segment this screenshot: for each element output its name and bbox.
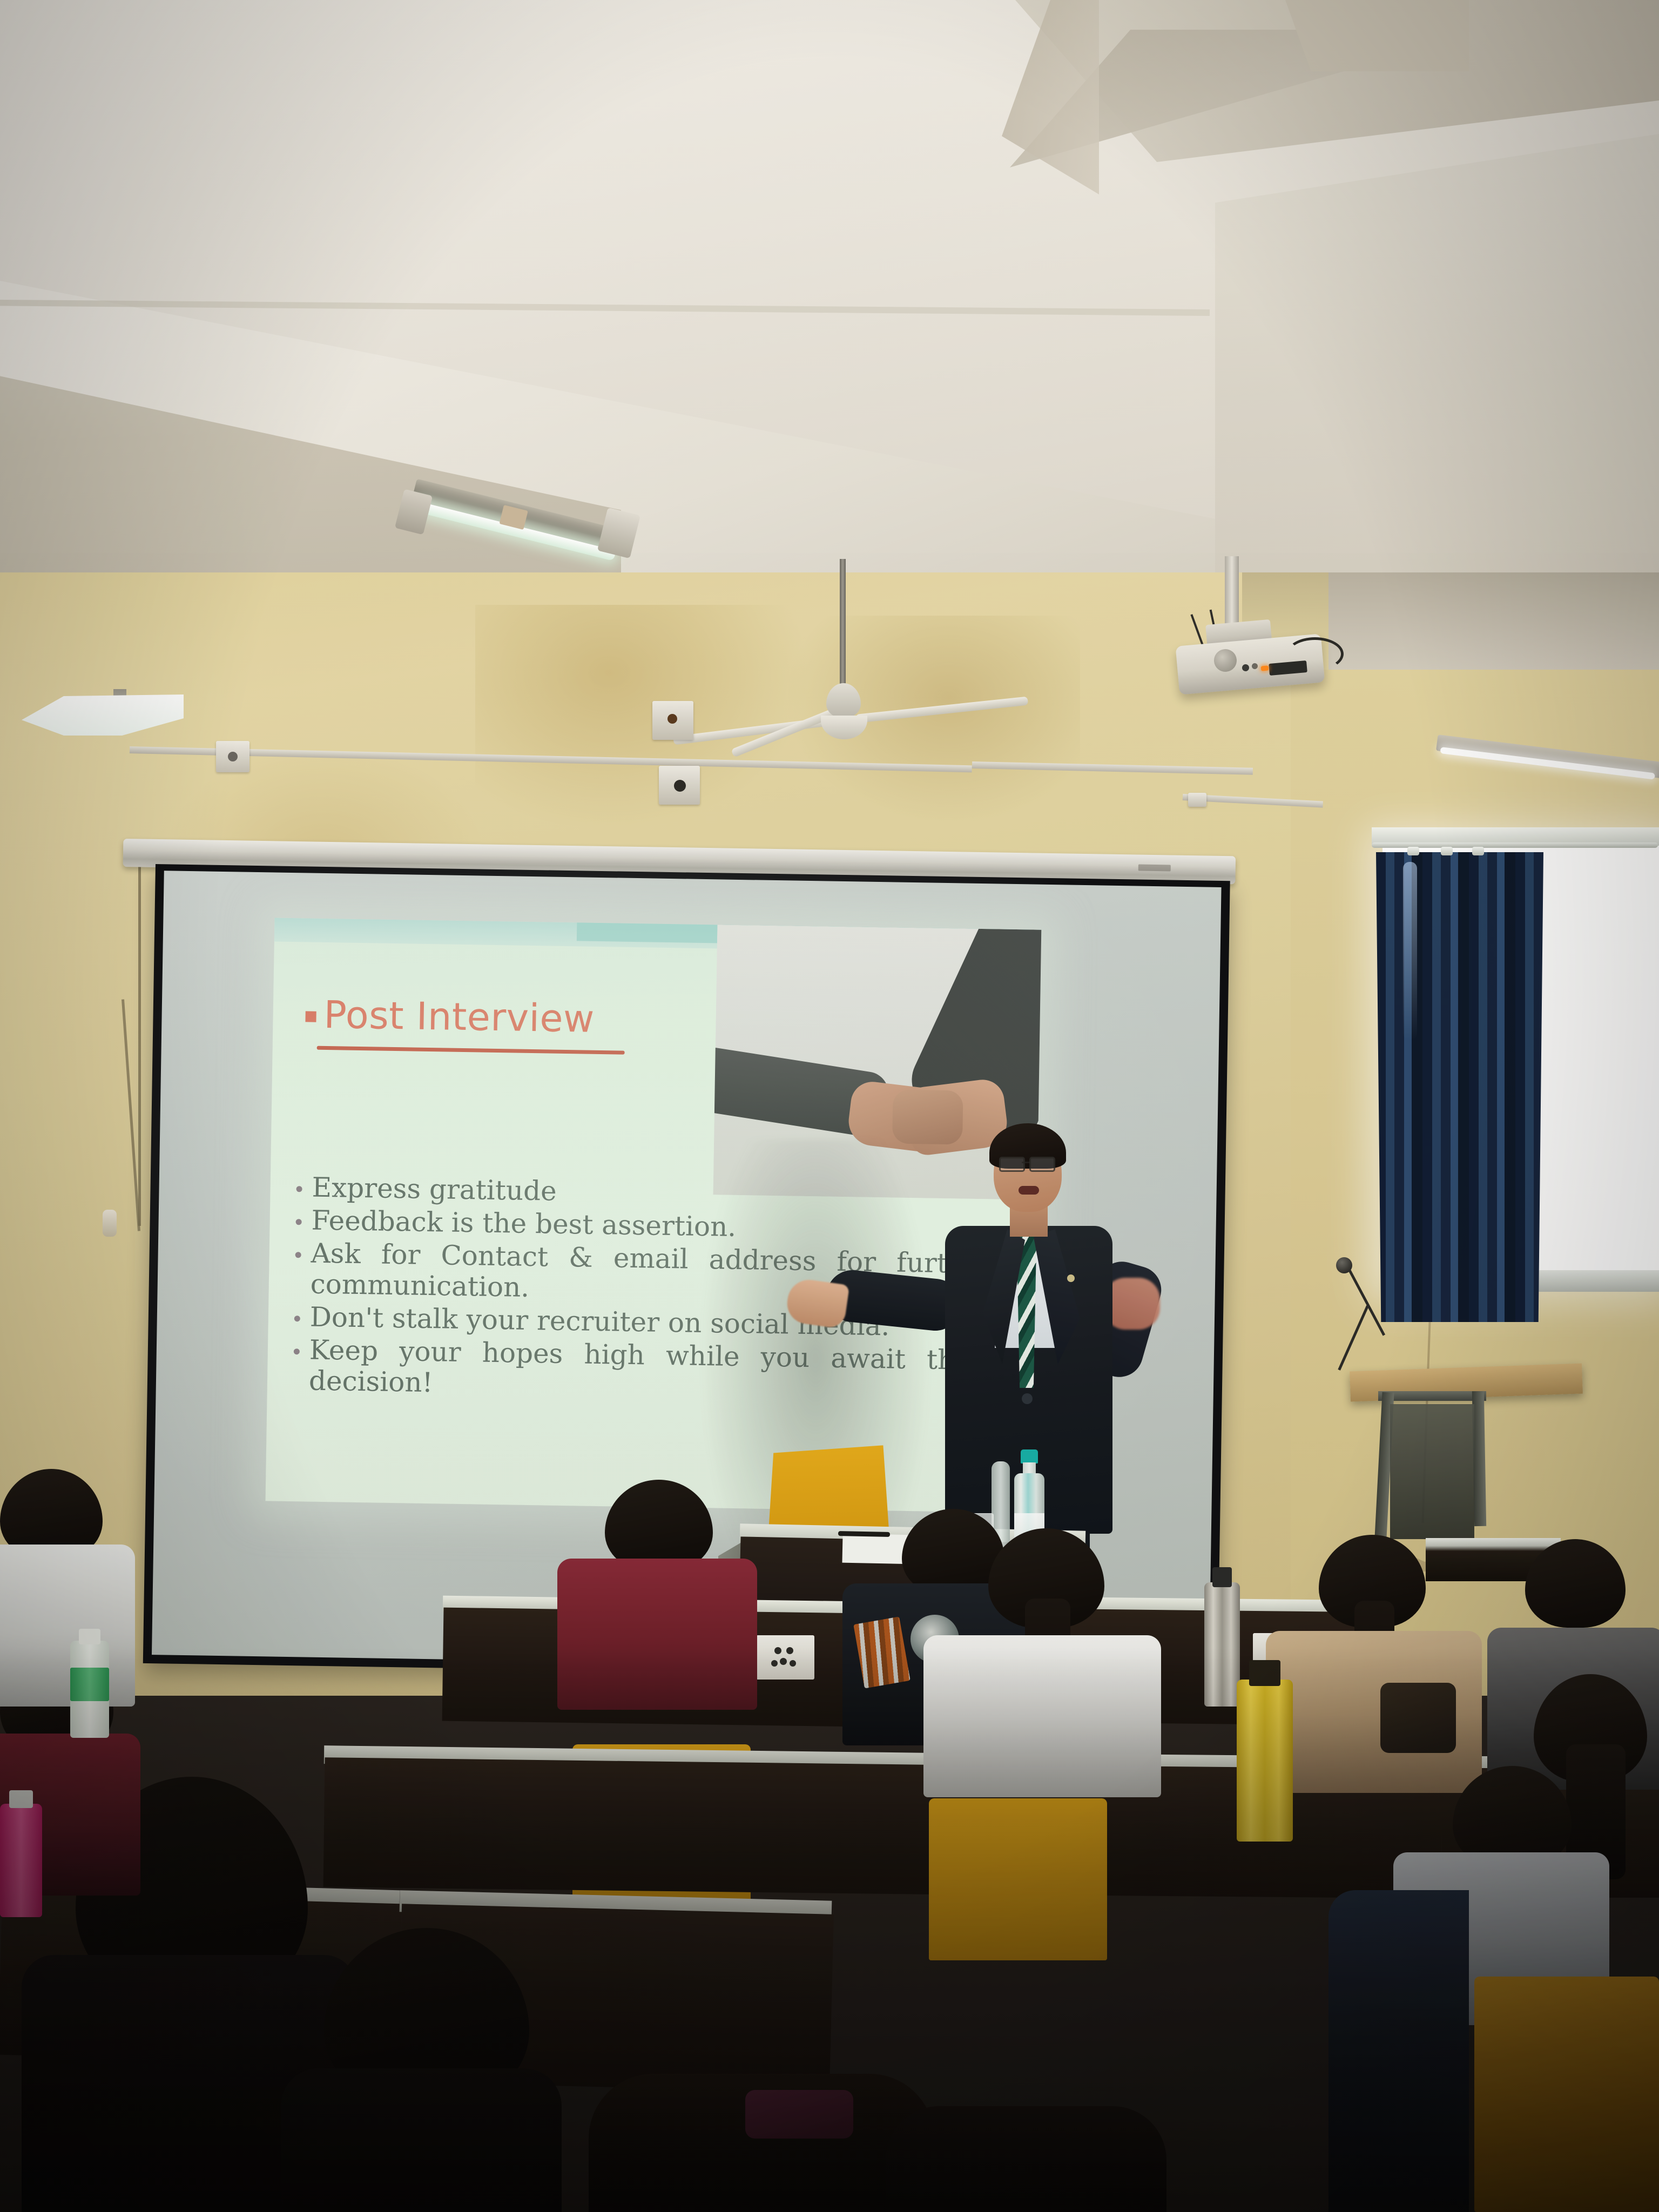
bag [745, 2090, 853, 2139]
ceiling-light-icon [22, 686, 194, 756]
bottle-cap-icon [1021, 1449, 1038, 1464]
square-bullet-icon [305, 1011, 316, 1022]
lapel-pin-icon [1067, 1274, 1075, 1282]
bullet-dot-icon [294, 1316, 300, 1321]
ceiling-notch [1285, 0, 1469, 71]
audience-member [589, 2074, 934, 2212]
green-water-bottle [70, 1641, 109, 1738]
projector-icon [1161, 556, 1388, 713]
curtain-ring [1441, 847, 1453, 855]
lectern-panel [1390, 1404, 1474, 1539]
lectern-frame [1378, 1391, 1486, 1401]
roller-logo [1138, 865, 1171, 872]
suit-button-icon [1022, 1393, 1033, 1404]
junction-box [1188, 793, 1206, 807]
audience-member [281, 1928, 562, 2212]
bullet-dot-icon [294, 1348, 300, 1354]
audience-member [1328, 1890, 1469, 2212]
audience-member [886, 2106, 1166, 2212]
slide-title: Post Interview [323, 996, 595, 1038]
chair[interactable] [929, 1798, 1107, 1960]
junction-box [216, 741, 249, 772]
audience-member [545, 1507, 761, 1734]
junction-box [659, 766, 700, 805]
yellow-water-bottle [1237, 1680, 1293, 1842]
curtain-ring [1407, 847, 1419, 855]
power-socket-panel[interactable] [756, 1635, 814, 1680]
junction-box [652, 701, 693, 740]
chair[interactable] [1474, 1977, 1659, 2212]
screen-pull-cord[interactable] [138, 848, 141, 1226]
glasses-icon [999, 1157, 1060, 1169]
microphone-icon [1336, 1257, 1352, 1273]
bullet-dot-icon [296, 1186, 302, 1192]
steel-water-bottle [1204, 1582, 1240, 1707]
screen-pull-knob[interactable] [103, 1210, 117, 1237]
presenter-left-hand [785, 1277, 849, 1330]
curtain-ring [1472, 847, 1484, 855]
bullet-dot-icon [295, 1252, 301, 1258]
bullet-dot-icon [296, 1219, 302, 1225]
bullet-text: Feedback is the best assertion. [311, 1205, 736, 1243]
curtain[interactable] [1376, 852, 1543, 1322]
slide-title-wrap: Post Interview [305, 982, 738, 1054]
curtain-highlight [1403, 862, 1417, 1040]
bench [323, 1757, 1016, 1896]
presenter-mouth [1019, 1186, 1039, 1195]
backpack [1380, 1683, 1456, 1753]
pink-water-bottle [0, 1804, 42, 1917]
audience-member [918, 1561, 1166, 1815]
bullet-text: Express gratitude [312, 1172, 557, 1207]
classroom-scene: Post Interview Express gratitude [0, 0, 1659, 2212]
ceiling-fan-icon [745, 559, 1134, 770]
